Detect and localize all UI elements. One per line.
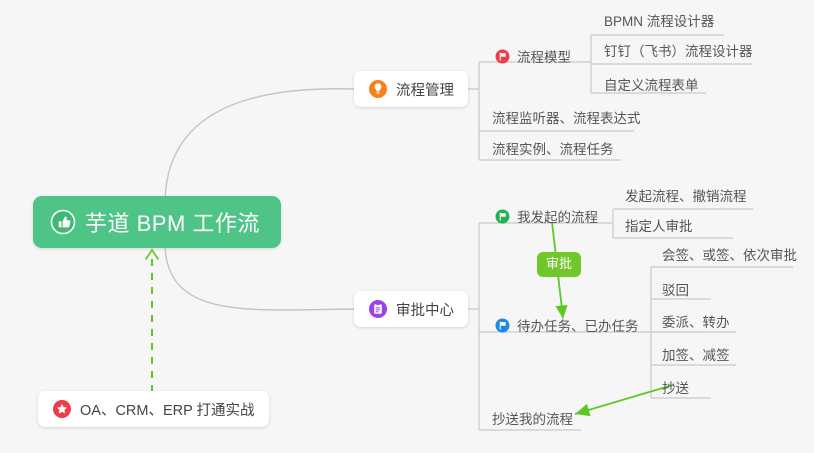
leaf-label: 会签、或签、依次审批 (662, 248, 797, 263)
approve-badge: 审批 (537, 252, 581, 277)
leaf-label: 委派、转办 (662, 315, 730, 330)
leaf-bpmn-designer[interactable]: BPMN 流程设计器 (604, 15, 714, 29)
leaf-countersign[interactable]: 会签、或签、依次审批 (662, 249, 797, 263)
bottom-node-label: OA、CRM、ERP 打通实战 (80, 399, 255, 420)
leaf-carbon-copy[interactable]: 抄送 (662, 382, 689, 396)
sub-node-cc-to-me[interactable]: 抄送我的流程 (492, 413, 573, 427)
mindmap-canvas: 芋道 BPM 工作流 流程管理 流程模型 BPMN 流程设计器 钉钉（飞书）流程 (0, 0, 814, 453)
approve-badge-label: 审批 (546, 256, 572, 271)
sub-node-label: 流程实例、流程任务 (492, 142, 614, 157)
branch-label: 审批中心 (396, 299, 454, 320)
sub-node-process-model[interactable]: 流程模型 (495, 43, 571, 69)
flag-circle-icon (495, 209, 510, 224)
sub-node-label: 流程监听器、流程表达式 (492, 111, 641, 126)
leaf-label: 发起流程、撤销流程 (625, 189, 747, 204)
leaf-assignee-approval[interactable]: 指定人审批 (625, 220, 693, 234)
flag-circle-icon (495, 49, 510, 64)
leaf-label: 钉钉（飞书）流程设计器 (604, 44, 753, 59)
sub-node-label: 流程模型 (517, 46, 571, 66)
sub-node-label: 待办任务、已办任务 (517, 315, 639, 335)
sub-node-label: 抄送我的流程 (492, 412, 573, 427)
flag-circle-icon (495, 318, 510, 333)
bottom-node-integration[interactable]: OA、CRM、ERP 打通实战 (38, 391, 269, 427)
star-circle-icon (52, 399, 72, 419)
leaf-start-cancel-process[interactable]: 发起流程、撤销流程 (625, 190, 747, 204)
leaf-reject[interactable]: 驳回 (662, 284, 689, 298)
root-node[interactable]: 芋道 BPM 工作流 (33, 196, 281, 248)
sub-node-my-initiated[interactable]: 我发起的流程 (495, 203, 598, 229)
leaf-label: 自定义流程表单 (604, 78, 699, 93)
branch-label: 流程管理 (396, 79, 454, 100)
leaf-label: 指定人审批 (625, 219, 693, 234)
clipboard-circle-icon (368, 299, 388, 319)
sub-node-listener-expression[interactable]: 流程监听器、流程表达式 (492, 112, 641, 126)
sub-node-label: 我发起的流程 (517, 206, 598, 226)
lightbulb-circle-icon (368, 79, 388, 99)
branch-node-process-management[interactable]: 流程管理 (354, 71, 468, 107)
root-label: 芋道 BPM 工作流 (85, 206, 260, 238)
thumbs-up-icon (50, 209, 76, 235)
leaf-dingtalk-designer[interactable]: 钉钉（飞书）流程设计器 (604, 45, 753, 59)
leaf-add-remove-sign[interactable]: 加签、减签 (662, 349, 730, 363)
sub-node-todo-done-tasks[interactable]: 待办任务、已办任务 (495, 312, 639, 338)
branch-node-approval-center[interactable]: 审批中心 (354, 291, 468, 327)
leaf-label: 抄送 (662, 381, 689, 396)
sub-node-instance-task[interactable]: 流程实例、流程任务 (492, 143, 614, 157)
leaf-label: 加签、减签 (662, 348, 730, 363)
leaf-delegate-transfer[interactable]: 委派、转办 (662, 316, 730, 330)
leaf-label: BPMN 流程设计器 (604, 14, 714, 29)
leaf-label: 驳回 (662, 283, 689, 298)
leaf-custom-form[interactable]: 自定义流程表单 (604, 79, 699, 93)
